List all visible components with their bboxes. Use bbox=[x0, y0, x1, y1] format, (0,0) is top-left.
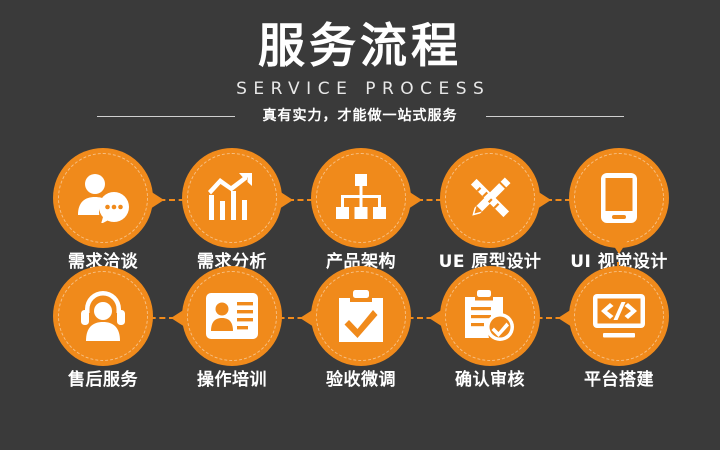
flow-step-label: 售后服务 bbox=[28, 368, 178, 392]
tagline-row: 真有实力，才能做一站式服务 bbox=[0, 105, 720, 127]
tagline-rule-left bbox=[97, 116, 235, 117]
flow-step-8[interactable]: 验收微调 bbox=[296, 266, 426, 396]
flow-row-1: 需求洽谈 需求分析 bbox=[0, 148, 720, 278]
flow-row-2: 售后服务 操作培训 bbox=[0, 266, 720, 396]
banner-header: 服务流程 SERVICE PROCESS 真有实力，才能做一站式服务 bbox=[0, 0, 720, 140]
tagline-text: 真有实力，才能做一站式服务 bbox=[235, 105, 486, 127]
flow-step-label: 操作培训 bbox=[157, 368, 307, 392]
bar-chart-growth-icon bbox=[182, 148, 282, 248]
clipboard-verify-icon bbox=[440, 266, 540, 366]
page-title: 服务流程 bbox=[0, 20, 720, 74]
flow-step-5[interactable]: UI 视觉设计 bbox=[554, 148, 684, 278]
clipboard-check-icon bbox=[311, 266, 411, 366]
flow-step-2[interactable]: 需求分析 bbox=[167, 148, 297, 278]
sitemap-icon bbox=[311, 148, 411, 248]
page-subtitle: SERVICE PROCESS bbox=[0, 79, 720, 99]
service-process-banner: 服务流程 SERVICE PROCESS 真有实力，才能做一站式服务 bbox=[0, 0, 720, 450]
user-chat-icon bbox=[53, 148, 153, 248]
tagline-rule-right bbox=[486, 116, 624, 117]
flow-step-9[interactable]: 操作培训 bbox=[167, 266, 297, 396]
id-card-training-icon bbox=[182, 266, 282, 366]
tablet-device-icon bbox=[569, 148, 669, 248]
flow-step-label: 确认审核 bbox=[415, 368, 565, 392]
flow-step-6[interactable]: 平台搭建 bbox=[554, 266, 684, 396]
flow-step-label: 验收微调 bbox=[286, 368, 436, 392]
monitor-code-icon bbox=[569, 266, 669, 366]
flow-step-label: 平台搭建 bbox=[544, 368, 694, 392]
flow-step-10[interactable]: 售后服务 bbox=[38, 266, 168, 396]
flow-step-1[interactable]: 需求洽谈 bbox=[38, 148, 168, 278]
flow-step-3[interactable]: 产品架构 bbox=[296, 148, 426, 278]
flow-step-7[interactable]: 确认审核 bbox=[425, 266, 555, 396]
pencil-ruler-icon bbox=[440, 148, 540, 248]
flow-step-4[interactable]: UE 原型设计 bbox=[425, 148, 555, 278]
headset-support-icon bbox=[53, 266, 153, 366]
